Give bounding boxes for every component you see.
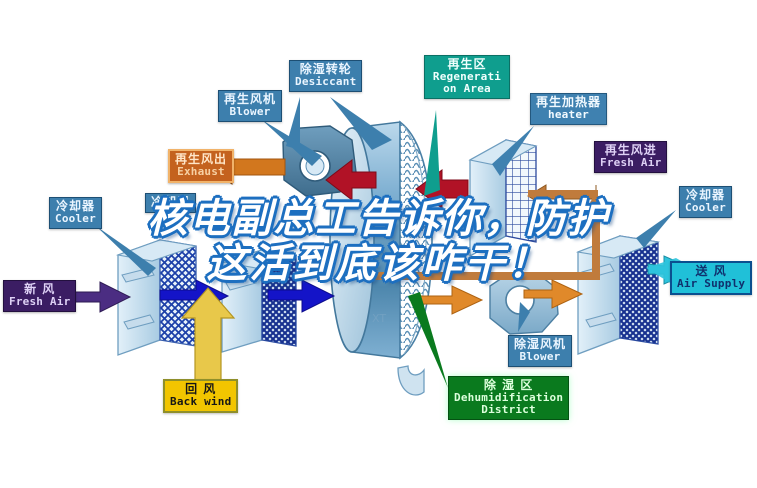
svg-text:XT: XT (372, 312, 386, 325)
callout-exhaust-cn: 再生风出 (175, 153, 227, 166)
callout-cooler-left-upper-cn: 冷却器 (55, 200, 96, 213)
callout-regeneration-heater-cn: 再生加热器 (536, 96, 601, 109)
callout-fresh-air-in-cn: 新 风 (9, 283, 70, 296)
callout-exhaust-en: Exhaust (175, 166, 227, 178)
callout-cooler-right-cn: 冷却器 (685, 189, 726, 202)
callout-air-supply-cn: 送 风 (677, 265, 745, 278)
callout-dehumidification-blower-en: Blower (514, 351, 566, 363)
callout-regeneration-fresh-air-in[interactable]: 再生风进 Fresh Air (594, 141, 667, 173)
callout-cooler-left-upper-en: Cooler (55, 213, 96, 225)
callout-dehumidification-district-cn: 除 湿 区 (454, 379, 563, 392)
callout-cooler-left-inner-cn: 冷却器 (151, 196, 190, 209)
callout-back-wind-en: Back wind (170, 396, 231, 408)
callout-regeneration-heater[interactable]: 再生加热器 heater (530, 93, 607, 125)
callout-dehumidification-district[interactable]: 除 湿 区 Dehumidification District (448, 376, 569, 420)
dehum-blower-housing (490, 274, 558, 334)
callout-cooler-right[interactable]: 冷却器 Cooler (679, 186, 732, 218)
callout-desiccant-rotor-cn: 除湿转轮 (295, 63, 356, 76)
callout-regeneration-blower[interactable]: 再生风机 Blower (218, 90, 282, 122)
callout-air-supply-en: Air Supply (677, 278, 745, 290)
callout-exhaust[interactable]: 再生风出 Exhaust (168, 149, 234, 183)
callout-air-supply[interactable]: 送 风 Air Supply (670, 261, 752, 295)
callout-regeneration-area[interactable]: 再生区 Regenerati on Area (424, 55, 510, 99)
drain-pan (398, 366, 424, 395)
cooler-coil-right (578, 236, 658, 354)
callout-dehumidification-district-en-2: District (454, 404, 563, 416)
callout-regeneration-fresh-air-in-en: Fresh Air (600, 157, 661, 169)
callout-fresh-air-in[interactable]: 新 风 Fresh Air (3, 280, 76, 312)
callout-dehumidification-blower[interactable]: 除湿风机 Blower (508, 335, 572, 367)
dehumidifier-schematic-illustration: XT (0, 0, 757, 488)
callout-cooler-left-upper[interactable]: 冷却器 Cooler (49, 197, 102, 229)
callout-regeneration-heater-en: heater (536, 109, 601, 121)
callout-regeneration-blower-en: Blower (224, 106, 276, 118)
callout-cooler-right-en: Cooler (685, 202, 726, 214)
schematic-canvas: XT (0, 0, 757, 488)
callout-regeneration-blower-cn: 再生风机 (224, 93, 276, 106)
callout-desiccant-rotor[interactable]: 除湿转轮 Desiccant (289, 60, 362, 92)
callout-desiccant-rotor-en: Desiccant (295, 76, 356, 88)
callout-fresh-air-in-en: Fresh Air (9, 296, 70, 308)
callout-back-wind[interactable]: 回 风 Back wind (163, 379, 238, 413)
callout-regeneration-area-en-2: on Area (430, 83, 504, 95)
callout-dehumidification-blower-cn: 除湿风机 (514, 338, 566, 351)
regen-fresh-air-arrow (528, 185, 598, 207)
callout-regeneration-area-cn: 再生区 (430, 58, 504, 71)
callout-back-wind-cn: 回 风 (170, 383, 231, 396)
callout-regeneration-fresh-air-in-cn: 再生风进 (600, 144, 661, 157)
callout-cooler-left-inner[interactable]: 冷却器 (145, 193, 196, 213)
cooler-coil-mid (222, 250, 296, 352)
